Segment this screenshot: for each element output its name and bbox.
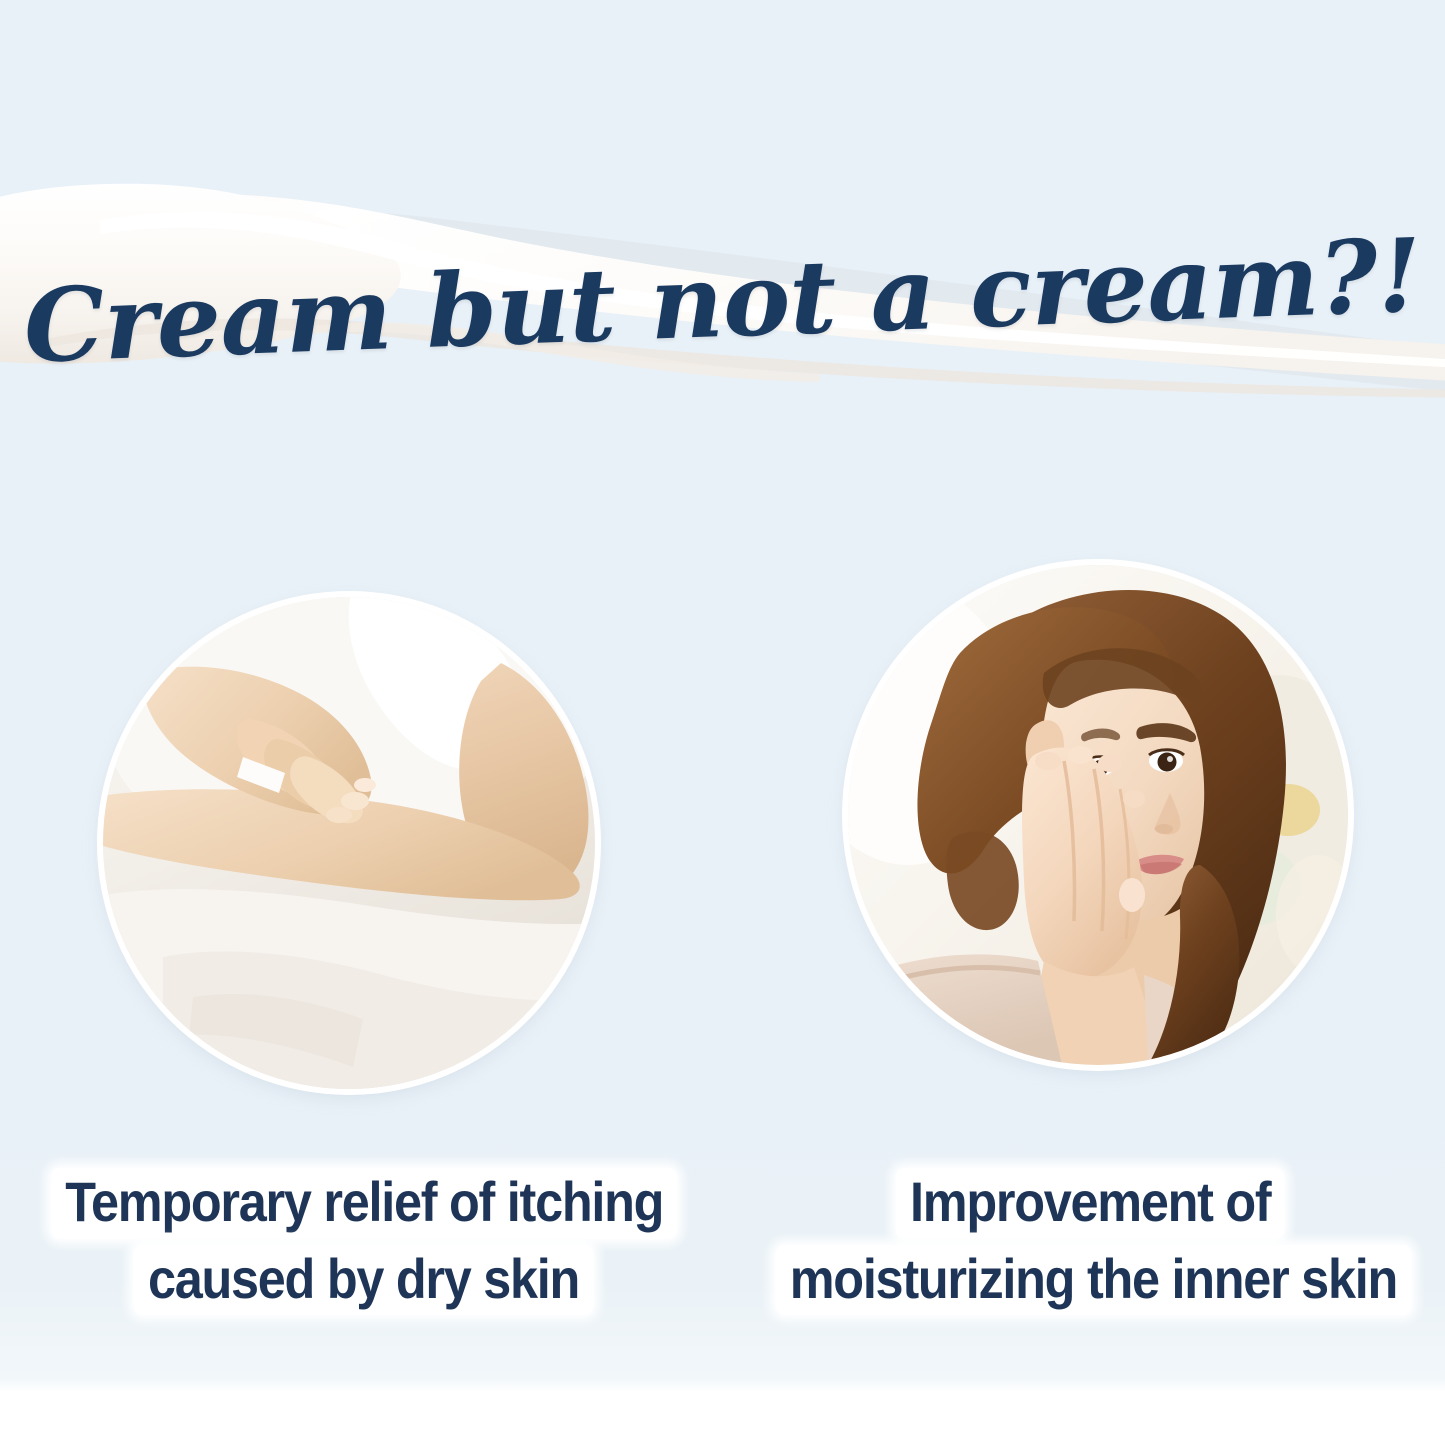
benefit-caption-itch-relief: Temporary relief of itching caused by dr… — [8, 1168, 720, 1321]
woman-touching-cheek-photo — [848, 565, 1348, 1065]
benefit-photo-moisture-improvement — [848, 565, 1348, 1065]
caption-line: moisturizing the inner skin — [775, 1245, 1411, 1316]
product-detail-banner: Cream but not a cream?! — [0, 0, 1445, 1445]
bottom-white-strip — [0, 1392, 1445, 1445]
caption-line: caused by dry skin — [134, 1245, 594, 1316]
benefit-caption-moisture-improvement: Improvement of moisturizing the inner sk… — [740, 1168, 1440, 1321]
benefit-photo-itch-relief — [103, 597, 595, 1089]
scratching-arm-photo — [103, 597, 595, 1089]
caption-line: Temporary relief of itching — [51, 1168, 678, 1239]
caption-line: Improvement of — [895, 1168, 1284, 1239]
